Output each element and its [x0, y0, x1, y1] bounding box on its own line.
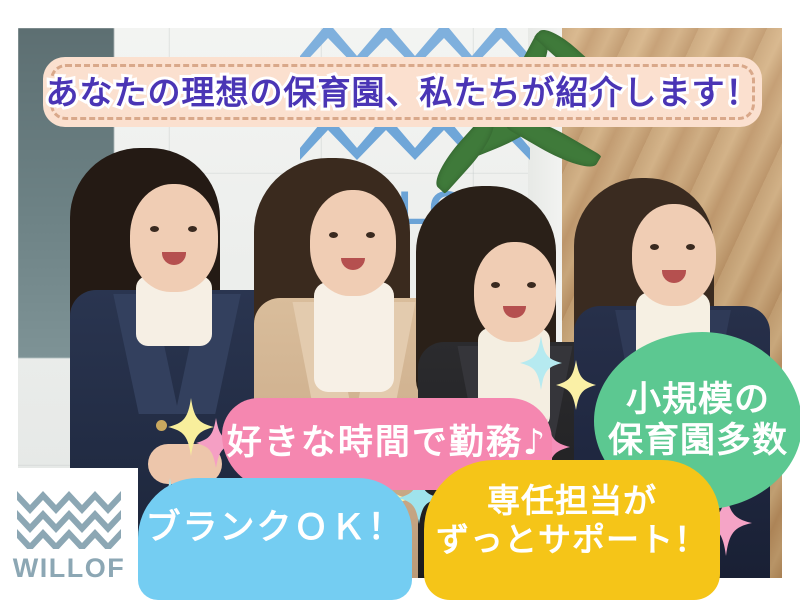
headline-text: あなたの理想の保育園、私たちが紹介します！ — [46, 76, 760, 109]
bubble-yellow-line-1: 専任担当が — [487, 481, 657, 520]
bubble-blank-ok: ブランクＯＫ！ — [138, 478, 412, 600]
bubble-yellow-line-2: ずっとサポート！ — [436, 520, 708, 559]
willof-logo-plate: WILLOF — [0, 468, 138, 600]
bubble-blue-line-1: ブランクＯＫ！ — [145, 508, 404, 549]
sparkle-yellow-right-icon — [556, 360, 596, 410]
ad-banner-root: WILLOF — [0, 0, 800, 600]
bubble-green-line-2: 保育園多数 — [608, 421, 788, 461]
bubble-green-line-1: 小規模の — [626, 380, 770, 420]
willof-zigzag-icon — [17, 487, 121, 549]
headline-banner: あなたの理想の保育園、私たちが紹介します！ — [43, 57, 762, 127]
bubble-pink-line-1: 好きな時間で勤務♪ — [227, 423, 547, 464]
willof-wordmark: WILLOF — [13, 555, 125, 582]
bubble-dedicated-support: 専任担当が ずっとサポート！ — [424, 460, 720, 600]
